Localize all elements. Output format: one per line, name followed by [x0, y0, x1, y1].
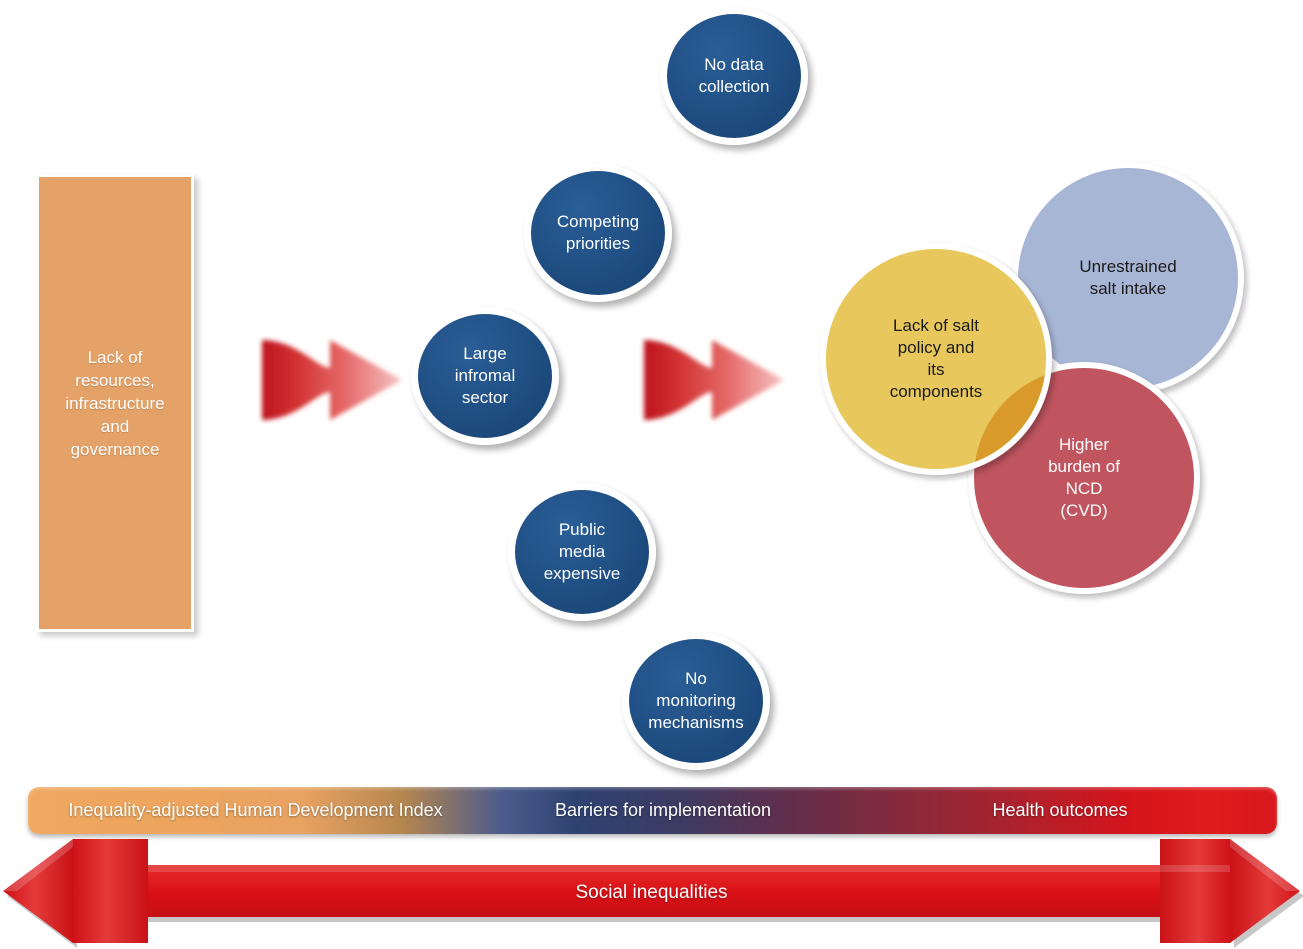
outcome-label: Higher burden of NCD (CVD)	[1048, 434, 1120, 522]
social-inequalities-arrow[interactable]: Social inequalities	[0, 836, 1303, 949]
spectrum-bar[interactable]: Inequality-adjusted Human Development In…	[28, 787, 1277, 834]
barrier-label: Competing priorities	[557, 211, 639, 255]
flow-arrow-2	[638, 322, 790, 438]
outcome-label: Unrestrained salt intake	[1079, 256, 1176, 300]
flow-arrow-1	[256, 322, 408, 438]
outcome-label: Lack of salt policy and its components	[890, 315, 983, 403]
spectrum-segment-outcomes: Health outcomes	[843, 787, 1277, 834]
diagram-canvas: Lack of resources, infrastructure and go…	[0, 0, 1303, 949]
barrier-label: Large infromal sector	[455, 343, 515, 409]
barrier-label: No monitoring mechanisms	[648, 668, 743, 734]
driver-box-label: Lack of resources, infrastructure and go…	[65, 346, 164, 461]
spectrum-segment-ihdi: Inequality-adjusted Human Development In…	[28, 787, 483, 834]
barrier-circle-no-data-collection[interactable]: No data collection	[660, 7, 808, 145]
barrier-circle-public-media-expensive[interactable]: Public media expensive	[508, 483, 656, 621]
barrier-circle-large-informal-sector[interactable]: Large infromal sector	[411, 307, 559, 445]
driver-box-resources[interactable]: Lack of resources, infrastructure and go…	[36, 174, 194, 632]
barrier-label: Public media expensive	[544, 519, 621, 585]
barrier-circle-no-monitoring-mechanisms[interactable]: No monitoring mechanisms	[622, 632, 770, 770]
barrier-circle-competing-priorities[interactable]: Competing priorities	[524, 164, 672, 302]
outcome-circle-lack-of-salt-policy[interactable]: Lack of salt policy and its components	[820, 243, 1052, 475]
spectrum-segment-barriers: Barriers for implementation	[483, 787, 843, 834]
barrier-label: No data collection	[699, 54, 770, 98]
